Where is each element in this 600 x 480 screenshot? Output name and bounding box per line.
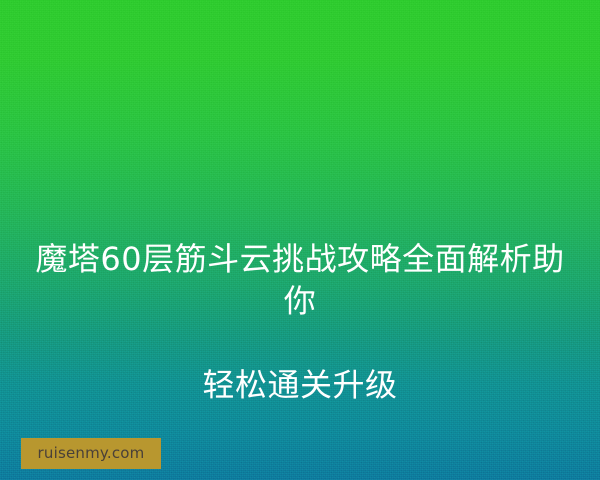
- headline-line-1: 魔塔60层筋斗云挑战攻略全面解析助你: [35, 240, 564, 320]
- watermark-site-label: ruisenmy.com: [38, 446, 145, 461]
- cover-image-canvas: 魔塔60层筋斗云挑战攻略全面解析助你 轻松通关升级 ruisenmy.com: [0, 0, 600, 480]
- watermark-badge: ruisenmy.com: [21, 438, 161, 469]
- headline-line-2: 轻松通关升级: [202, 366, 397, 404]
- headline-title: 魔塔60层筋斗云挑战攻略全面解析助你 轻松通关升级: [0, 196, 600, 406]
